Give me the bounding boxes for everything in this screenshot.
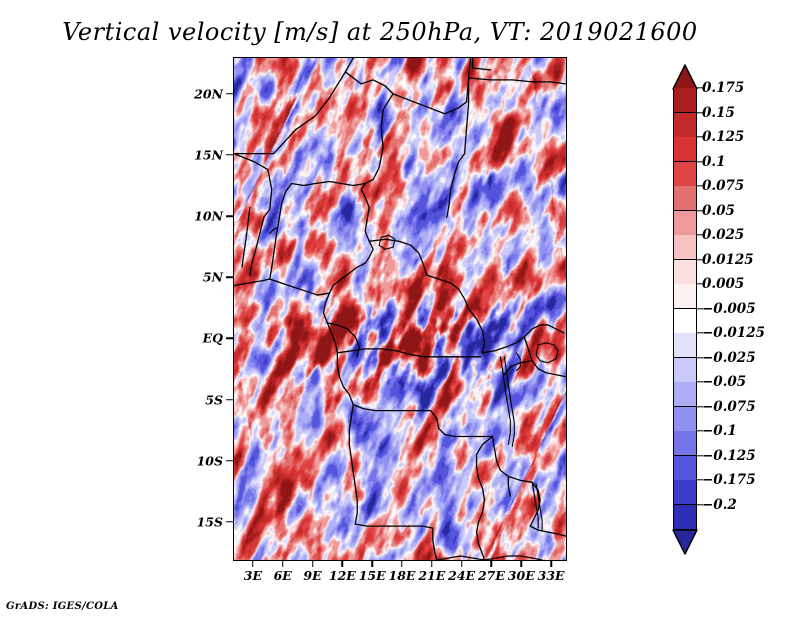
colorbar-band <box>673 358 697 383</box>
colorbar-label: −0.025 <box>702 350 756 366</box>
latitude-label: 20N <box>175 86 223 101</box>
latitude-tick <box>226 460 233 462</box>
colorbar-band <box>673 309 697 334</box>
longitude-label: 24E <box>448 568 475 583</box>
longitude-tick <box>521 561 523 567</box>
latitude-tick <box>226 154 233 156</box>
map-plot-area <box>233 57 567 561</box>
latitude-label: 10S <box>175 453 223 468</box>
grads-credit: GrADS: IGES/COLA <box>6 601 119 612</box>
page-title: Vertical velocity [m/s] at 250hPa, VT: 2… <box>0 18 760 46</box>
longitude-tick <box>282 561 284 567</box>
colorbar-label: 0.005 <box>702 276 744 292</box>
colorbar-band <box>673 88 697 113</box>
colorbar-label: 0.075 <box>702 178 744 194</box>
colorbar-label: −0.175 <box>702 472 756 488</box>
colorbar-label: −0.075 <box>702 399 756 415</box>
longitude-tick <box>431 561 433 567</box>
latitude-tick <box>226 399 233 401</box>
colorbar-label: 0.025 <box>702 227 744 243</box>
colorbar-band <box>673 113 697 138</box>
colorbar-band <box>673 431 697 456</box>
colorbar-band <box>673 505 697 530</box>
latitude-label: 5S <box>175 392 223 407</box>
colorbar-label: −0.005 <box>702 301 756 317</box>
longitude-label: 12E <box>329 568 356 583</box>
latitude-label: 5N <box>175 270 223 285</box>
latitude-tick <box>226 276 233 278</box>
colorbar-label: −0.1 <box>702 423 737 439</box>
grads-plot-page: Vertical velocity [m/s] at 250hPa, VT: 2… <box>0 0 800 618</box>
longitude-label: 9E <box>303 568 321 583</box>
colorbar-label: −0.0125 <box>702 325 765 341</box>
colorbar-label: −0.2 <box>702 497 737 513</box>
colorbar-band <box>673 211 697 236</box>
colorbar-band <box>673 456 697 481</box>
longitude-tick <box>312 561 314 567</box>
country-borders-overlay <box>234 58 566 560</box>
longitude-label: 27E <box>478 568 505 583</box>
latitude-label: 15N <box>175 147 223 162</box>
colorbar-band <box>673 382 697 407</box>
colorbar-top-arrow <box>671 64 699 90</box>
longitude-label: 15E <box>359 568 386 583</box>
longitude-tick <box>550 561 552 567</box>
colorbar-band <box>673 137 697 162</box>
longitude-label: 33E <box>538 568 565 583</box>
colorbar-label: −0.05 <box>702 374 746 390</box>
colorbar-label: 0.175 <box>702 80 744 96</box>
colorbar-band <box>673 284 697 309</box>
latitude-tick <box>226 215 233 217</box>
latitude-label: 15S <box>175 514 223 529</box>
latitude-tick <box>226 338 233 340</box>
colorbar-band <box>673 260 697 285</box>
longitude-label: 18E <box>389 568 416 583</box>
longitude-tick <box>461 561 463 567</box>
latitude-label: 10N <box>175 209 223 224</box>
colorbar-band <box>673 162 697 187</box>
latitude-label: EQ <box>175 331 223 346</box>
colorbar-band <box>673 333 697 358</box>
colorbar-label: 0.125 <box>702 129 744 145</box>
longitude-tick <box>401 561 403 567</box>
colorbar-band <box>673 235 697 260</box>
colorbar-label: −0.125 <box>702 448 756 464</box>
longitude-tick <box>371 561 373 567</box>
longitude-label: 21E <box>418 568 445 583</box>
colorbar-label: 0.15 <box>702 105 735 121</box>
colorbar-label: 0.05 <box>702 203 735 219</box>
longitude-label: 3E <box>244 568 262 583</box>
longitude-label: 6E <box>274 568 292 583</box>
latitude-tick <box>226 521 233 523</box>
latitude-tick <box>226 93 233 95</box>
longitude-label: 30E <box>508 568 535 583</box>
colorbar-label: 0.1 <box>702 154 726 170</box>
colorbar-band <box>673 480 697 505</box>
longitude-tick <box>252 561 254 567</box>
longitude-tick <box>491 561 493 567</box>
colorbar-band <box>673 186 697 211</box>
colorbar-band <box>673 407 697 432</box>
longitude-tick <box>342 561 344 567</box>
colorbar-label: 0.0125 <box>702 252 754 268</box>
colorbar-bottom-arrow <box>671 529 699 555</box>
